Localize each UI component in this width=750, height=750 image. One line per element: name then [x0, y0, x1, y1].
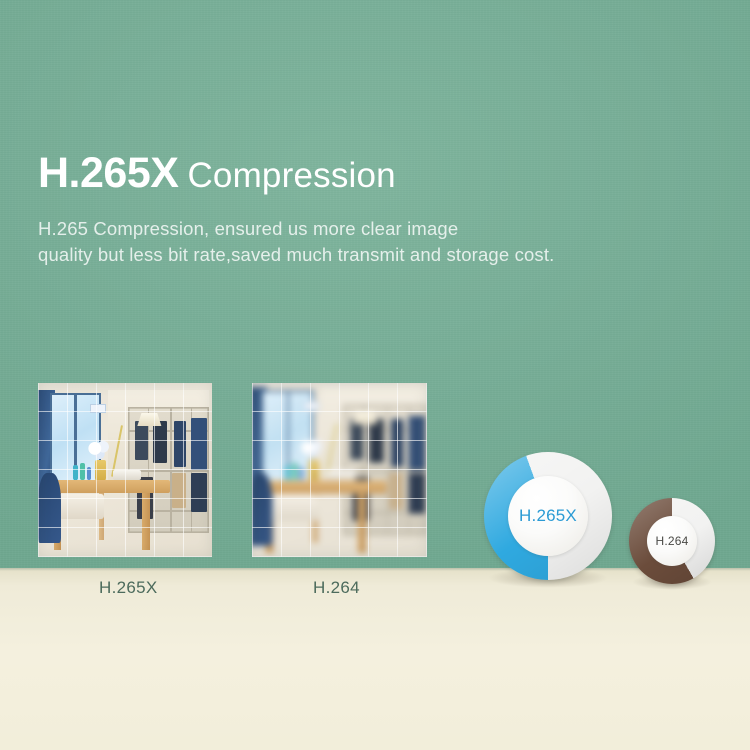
sample-image-h264 — [252, 383, 427, 557]
gauge-h264: H.264 — [629, 498, 715, 588]
page-title: H.265XCompression — [38, 152, 396, 195]
page-subtitle-line-2: quality but less bit rate,saved much tra… — [38, 242, 718, 268]
caption-h264: H.264 — [313, 578, 360, 598]
caption-h265x: H.265X — [99, 578, 158, 598]
sample-image-vignette — [38, 383, 212, 557]
page-title-strong: H.265X — [38, 149, 178, 197]
sample-image-h265x — [38, 383, 212, 557]
gauge-hub-h264: H.264 — [647, 516, 697, 566]
gauge-label-h265x: H.265X — [519, 506, 577, 526]
gauge-h265x: H.265X — [484, 452, 612, 584]
sample-image-vignette — [252, 383, 427, 557]
page-title-light: Compression — [187, 156, 395, 195]
gauge-label-h264: H.264 — [655, 534, 688, 548]
gauge-hub-h265x: H.265X — [508, 476, 588, 556]
page-subtitle: H.265 Compression, ensured us more clear… — [38, 216, 718, 268]
page-subtitle-line-1: H.265 Compression, ensured us more clear… — [38, 216, 718, 242]
infographic-canvas: H.265XCompression H.265 Compression, ens… — [0, 0, 750, 750]
